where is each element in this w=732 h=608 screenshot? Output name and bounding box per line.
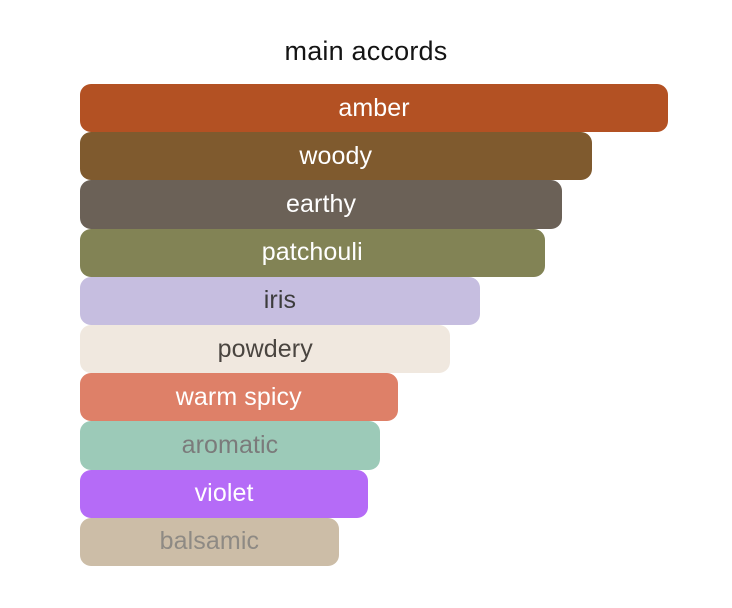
accord-bar-label: amber (338, 96, 409, 121)
accord-bar-label: warm spicy (176, 385, 302, 410)
accord-bar-list: amberwoodyearthypatchouliirispowderywarm… (80, 84, 668, 566)
accord-bar-row: earthy (80, 180, 668, 228)
accord-bar-label: aromatic (182, 433, 279, 458)
accord-bar[interactable]: warm spicy (80, 373, 398, 421)
main-accords-chart: main accords amberwoodyearthypatchouliir… (0, 0, 732, 608)
accord-bar[interactable]: amber (80, 84, 668, 132)
accord-bar-row: amber (80, 84, 668, 132)
accord-bar-row: powdery (80, 325, 668, 373)
accord-bar-row: aromatic (80, 421, 668, 469)
accord-bar-row: warm spicy (80, 373, 668, 421)
accord-bar-label: powdery (218, 337, 313, 362)
accord-bar-label: woody (299, 144, 372, 169)
accord-bar[interactable]: patchouli (80, 229, 545, 277)
accord-bar[interactable]: violet (80, 470, 368, 518)
accord-bar-row: woody (80, 132, 668, 180)
accord-bar-label: iris (264, 288, 296, 313)
accord-bar[interactable]: earthy (80, 180, 562, 228)
accord-bar-row: iris (80, 277, 668, 325)
accord-bar[interactable]: woody (80, 132, 592, 180)
accord-bar-label: earthy (286, 192, 356, 217)
accord-bar-label: balsamic (160, 529, 259, 554)
accord-bar[interactable]: aromatic (80, 421, 380, 469)
chart-title: main accords (0, 36, 732, 67)
accord-bar[interactable]: iris (80, 277, 480, 325)
accord-bar-row: violet (80, 470, 668, 518)
accord-bar-row: balsamic (80, 518, 668, 566)
accord-bar-label: violet (195, 481, 254, 506)
accord-bar[interactable]: balsamic (80, 518, 339, 566)
accord-bar-row: patchouli (80, 229, 668, 277)
accord-bar[interactable]: powdery (80, 325, 450, 373)
accord-bar-label: patchouli (262, 240, 363, 265)
